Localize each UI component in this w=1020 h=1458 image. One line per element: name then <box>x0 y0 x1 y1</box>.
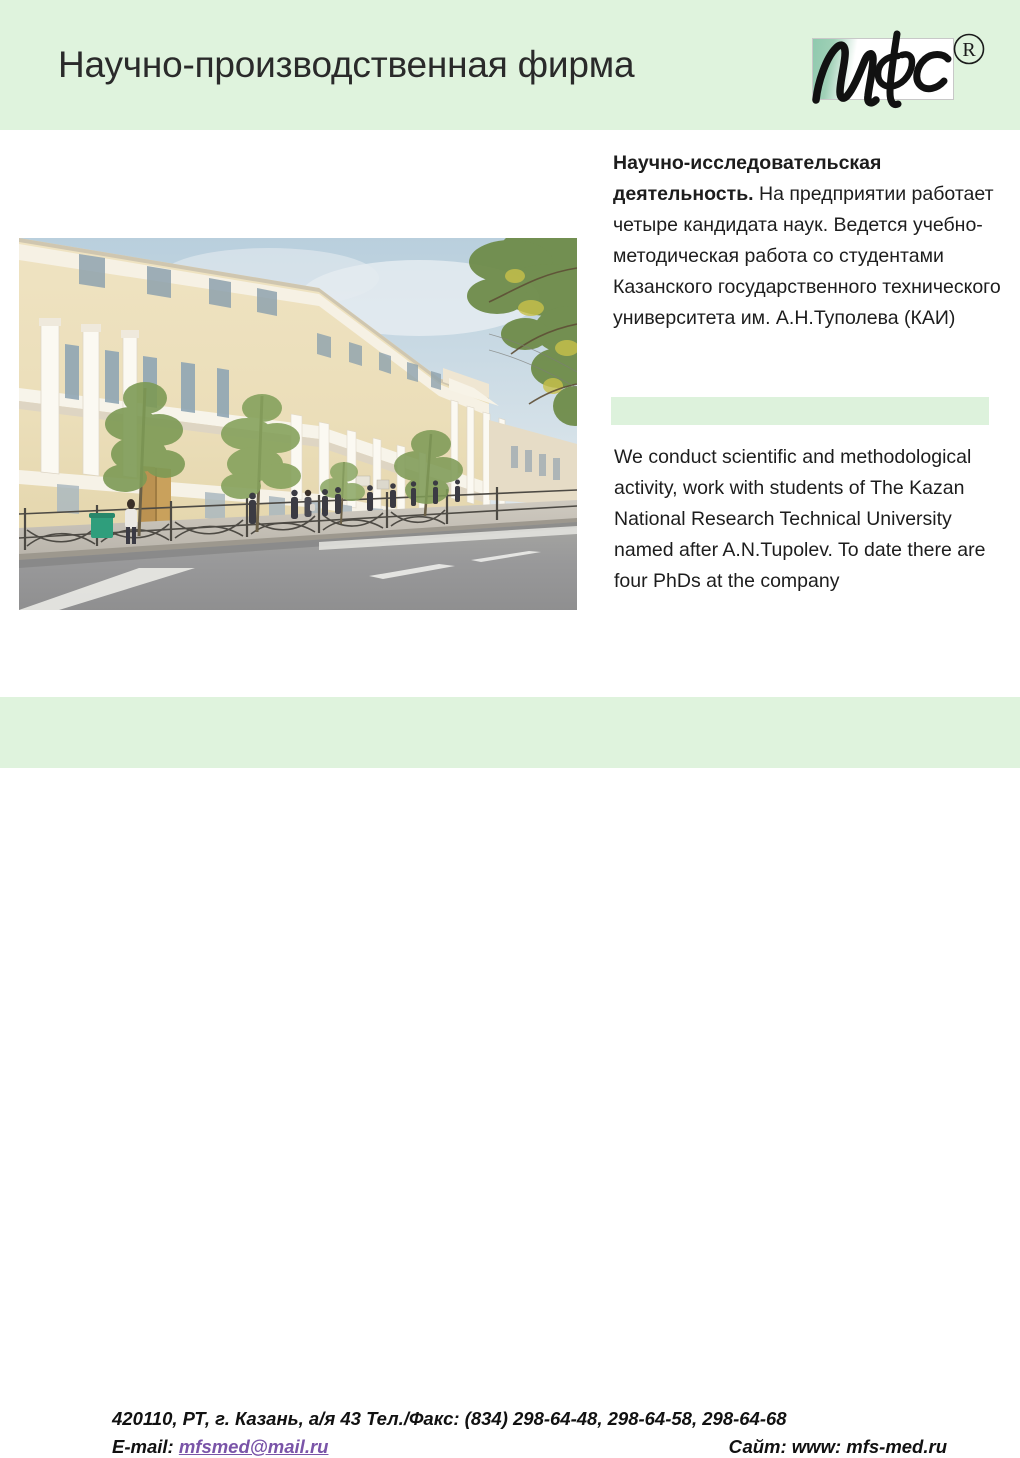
footer-band: 420110, РТ, г. Казань, а/я 43 Тел./Факс:… <box>0 697 1020 768</box>
building-photo <box>19 238 577 610</box>
email-link[interactable]: mfsmed@mail.ru <box>179 1436 329 1457</box>
email-label: E-mail: <box>112 1436 174 1457</box>
logo-wordmark-mfs-icon <box>802 26 967 114</box>
footer-website: Сайт: www: mfs-med.ru <box>729 1436 947 1458</box>
svg-text:R: R <box>962 39 976 61</box>
building-photo-illustration <box>19 238 577 610</box>
registered-trademark-icon: R <box>952 32 986 66</box>
footer-contact-row: E-mail: mfsmed@mail.ru Сайт: www: mfs-me… <box>112 1436 947 1458</box>
page-title: Научно-производственная фирма <box>58 44 634 86</box>
english-paragraph: We conduct scientific and methodological… <box>614 442 1006 597</box>
green-divider-strip <box>611 397 989 425</box>
russian-paragraph: Научно-исследовательская деятельность. Н… <box>613 148 1005 334</box>
company-logo <box>812 38 954 100</box>
footer-email-group: E-mail: mfsmed@mail.ru <box>112 1436 328 1458</box>
footer-address: 420110, РТ, г. Казань, а/я 43 Тел./Факс:… <box>112 1408 787 1430</box>
